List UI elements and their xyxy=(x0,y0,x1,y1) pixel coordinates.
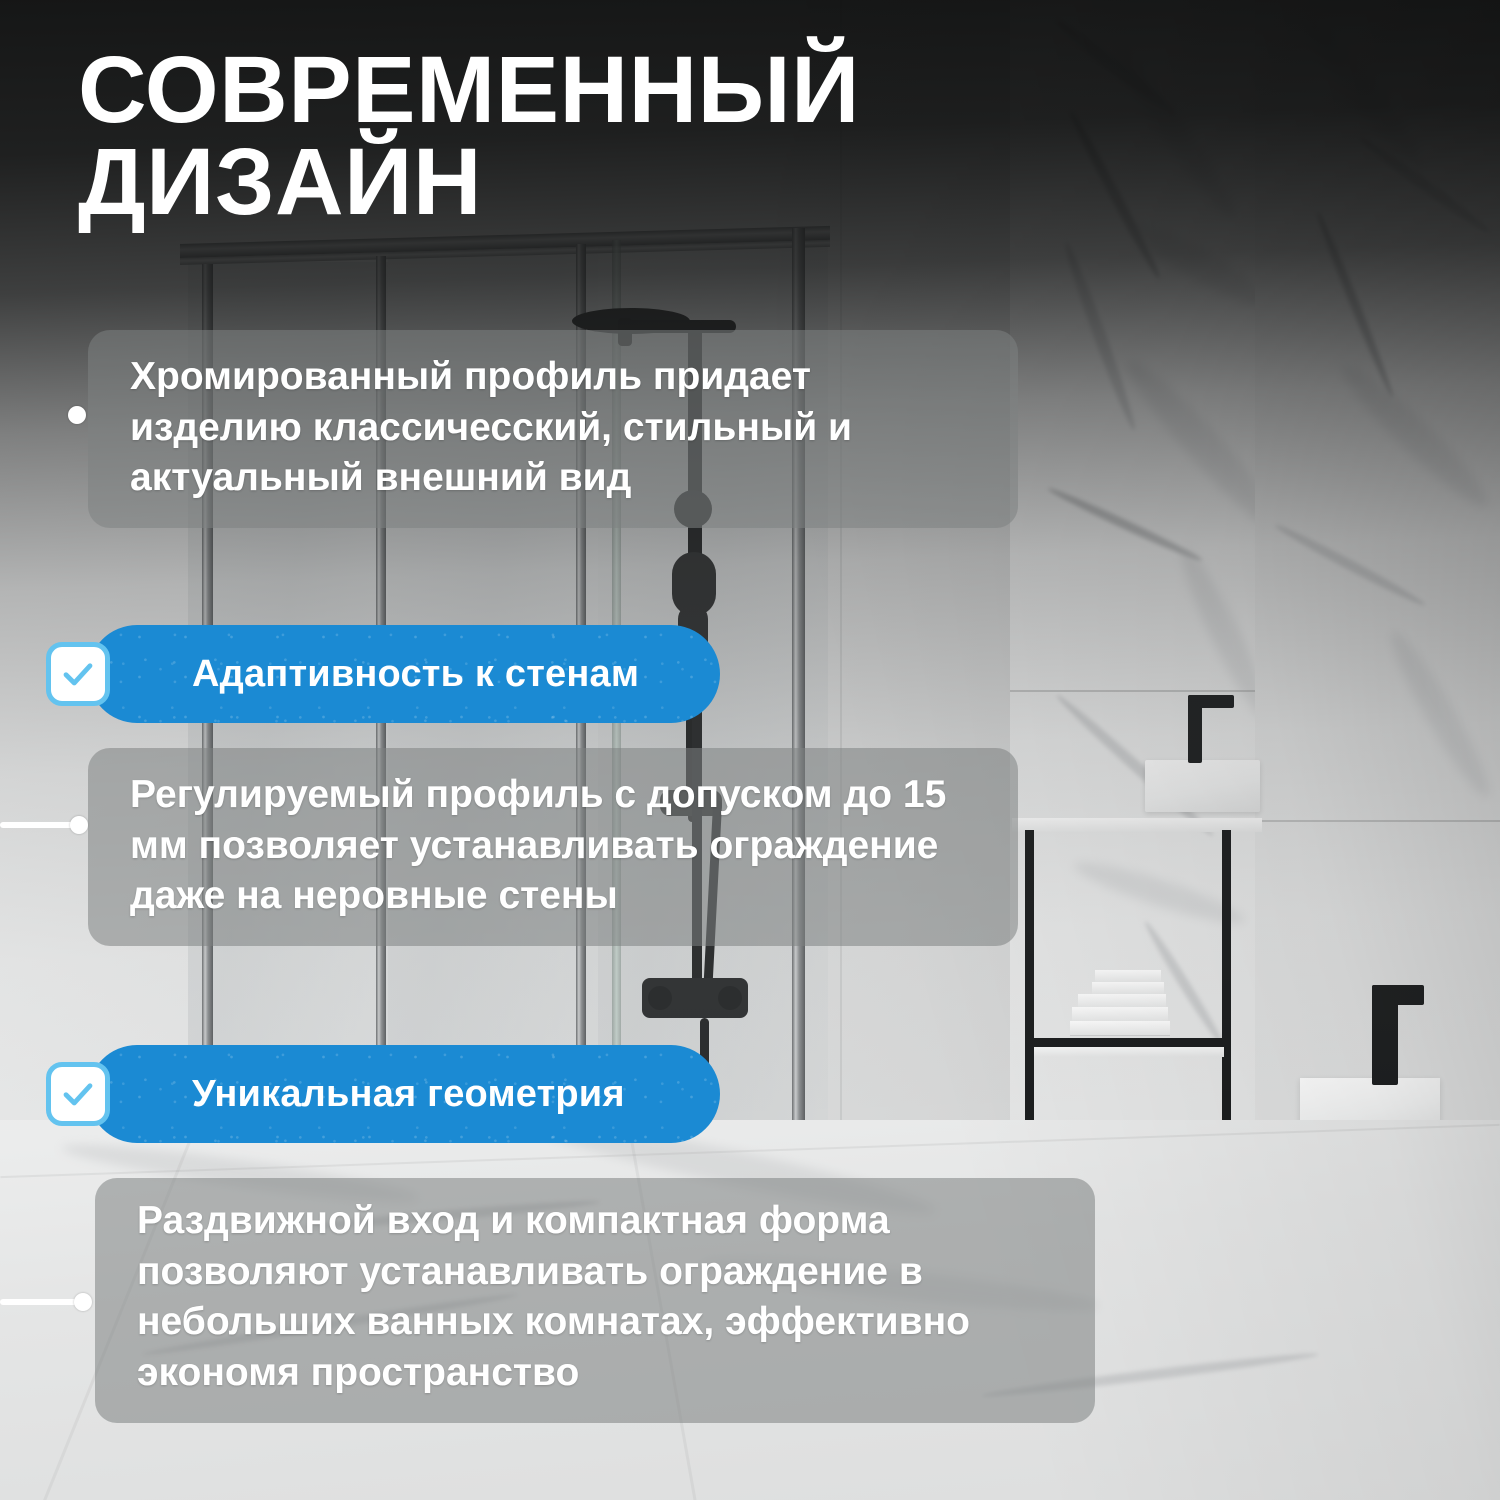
badge-adaptivity[interactable]: Адаптивность к стенам xyxy=(88,625,720,723)
leader-dot-icon xyxy=(74,1293,92,1311)
badge-geometry[interactable]: Уникальная геометрия xyxy=(88,1045,720,1143)
check-icon xyxy=(46,1062,110,1126)
leader-dot-icon xyxy=(70,816,88,834)
feature-text-panel-2: Регулируемый профиль с допуском до 15 мм… xyxy=(88,748,1018,946)
leader-line xyxy=(0,822,78,828)
poster: СОВРЕМЕННЫЙ ДИЗАЙН Хромированный профиль… xyxy=(0,0,1500,1500)
badge-label: Адаптивность к стенам xyxy=(192,653,639,696)
leader-line xyxy=(0,1299,82,1305)
check-icon xyxy=(46,642,110,706)
page-title: СОВРЕМЕННЫЙ ДИЗАЙН xyxy=(78,44,978,228)
feature-text-panel-3: Раздвижной вход и компактная форма позво… xyxy=(95,1178,1095,1423)
bullet-dot-icon xyxy=(68,406,86,424)
feature-text-panel-1: Хромированный профиль придает изделию кл… xyxy=(88,330,1018,528)
badge-label: Уникальная геометрия xyxy=(192,1073,625,1116)
content-layer: СОВРЕМЕННЫЙ ДИЗАЙН Хромированный профиль… xyxy=(0,0,1500,1500)
